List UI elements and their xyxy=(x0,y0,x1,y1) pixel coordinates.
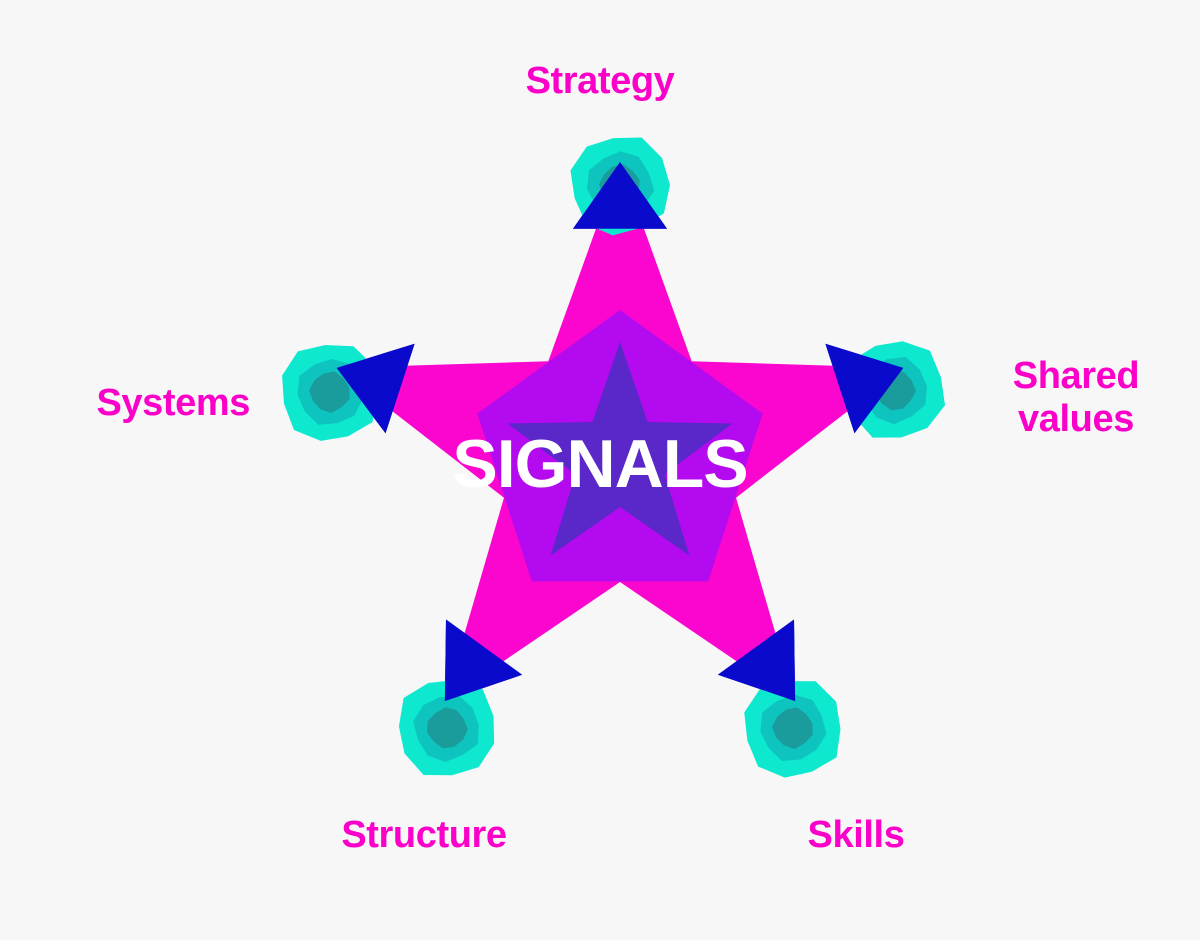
node-label-structure[interactable]: Structure xyxy=(250,814,598,857)
node-label-systems[interactable]: Systems xyxy=(0,382,250,425)
node-label-shared-values[interactable]: Shared values xyxy=(968,355,1184,440)
center-title: SIGNALS xyxy=(0,430,1200,498)
node-label-strategy[interactable]: Strategy xyxy=(0,60,1200,103)
node-label-skills[interactable]: Skills xyxy=(700,814,1012,857)
diagram-canvas: Strategy Shared values Skills Structure … xyxy=(0,0,1200,940)
